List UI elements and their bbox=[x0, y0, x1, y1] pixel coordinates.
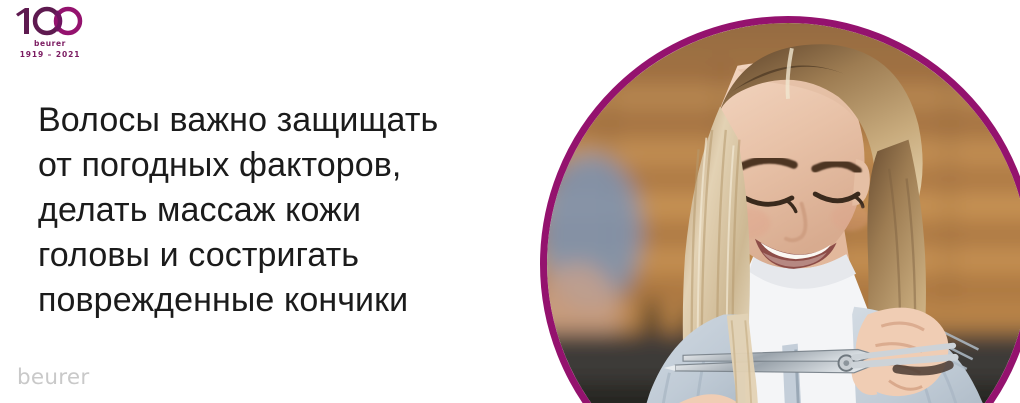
banner-canvas: beurer 1919 – 2021 Волосы важно защищать… bbox=[0, 0, 1020, 403]
hero-photo bbox=[547, 23, 1020, 403]
anniversary-100-mark bbox=[14, 6, 86, 36]
anniversary-logo-years: 1919 – 2021 bbox=[14, 50, 86, 59]
headline: Волосы важно защищать от погодных фактор… bbox=[38, 98, 508, 323]
anniversary-logo: beurer 1919 – 2021 bbox=[14, 6, 114, 62]
beurer-wordmark: beurer bbox=[17, 364, 137, 390]
headline-line-3: делать массаж кожи bbox=[38, 188, 508, 233]
headline-line-1: Волосы важно защищать bbox=[38, 98, 508, 143]
hero-photo-ring bbox=[540, 16, 1020, 403]
svg-text:beurer: beurer bbox=[17, 365, 89, 390]
headline-line-5: поврежденные кончики bbox=[38, 278, 508, 323]
anniversary-logo-brand: beurer bbox=[14, 39, 86, 48]
headline-line-4: головы и состригать bbox=[38, 233, 508, 278]
headline-line-2: от погодных факторов, bbox=[38, 143, 508, 188]
